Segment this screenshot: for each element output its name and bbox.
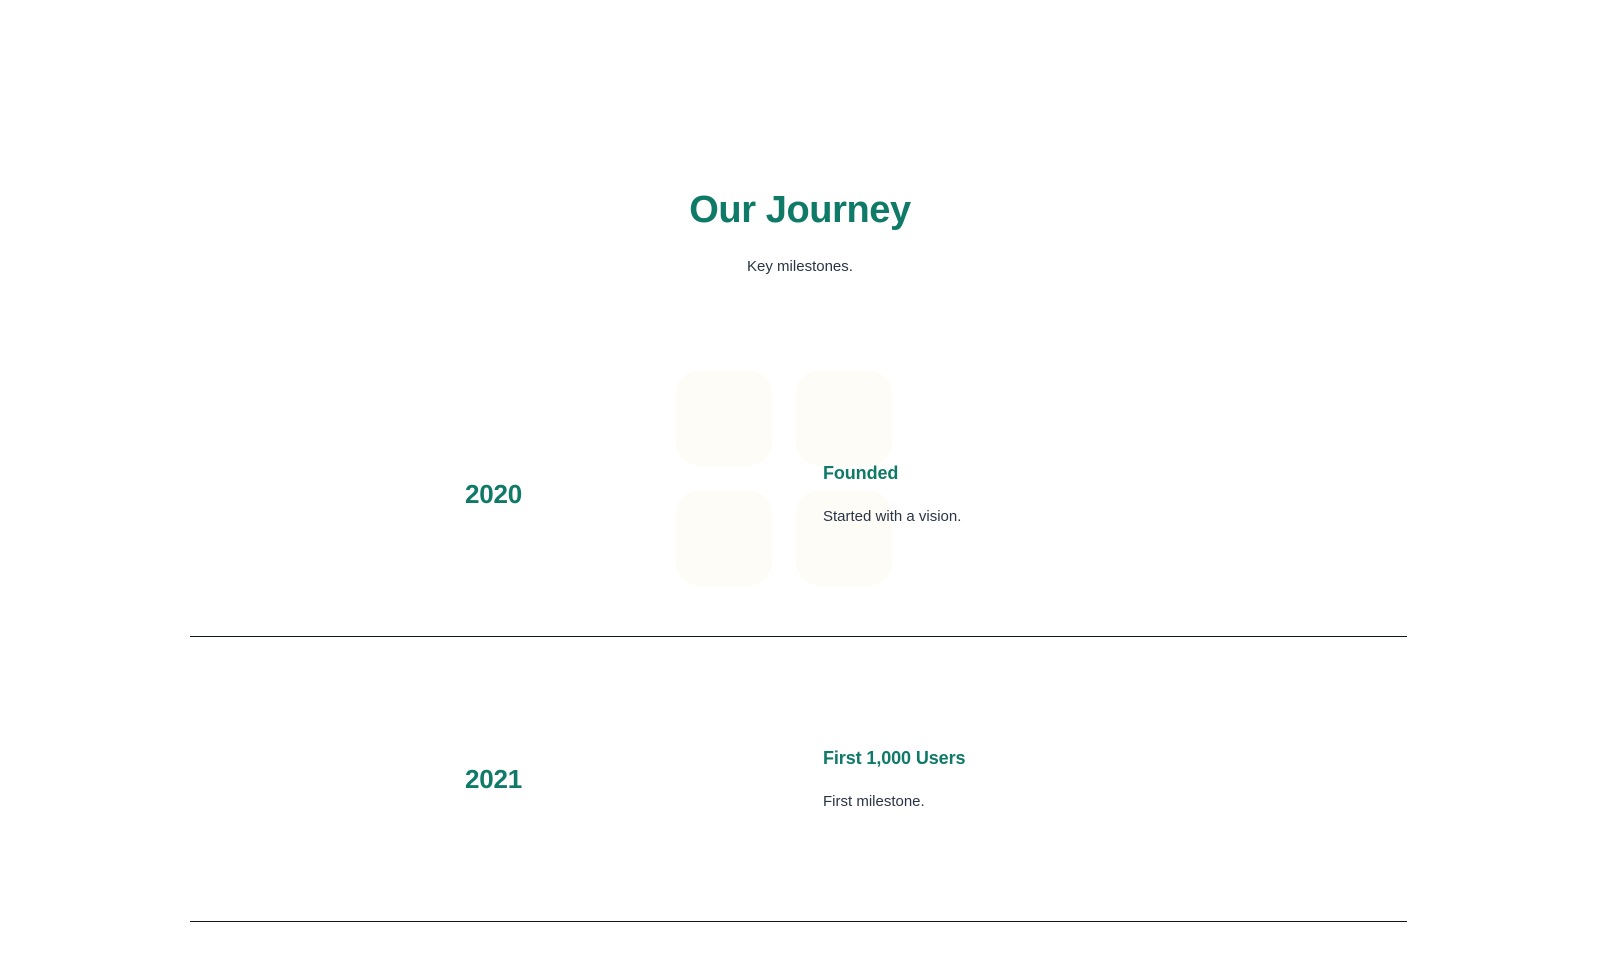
media-tile xyxy=(676,490,772,586)
timeline-list: 2020 Founded Started with a vision. 2021… xyxy=(190,352,1407,922)
timeline-content: Founded Started with a vision. xyxy=(822,461,1407,528)
media-tile xyxy=(796,370,892,466)
timeline-description: Started with a vision. xyxy=(823,506,1407,528)
journey-page: Our Journey Key milestones. 2020 Founded… xyxy=(0,0,1600,978)
timeline-heading: Founded xyxy=(823,461,1407,485)
timeline-year: 2021 xyxy=(190,763,522,795)
timeline-row: 2020 Founded Started with a vision. xyxy=(190,352,1407,637)
media-tile xyxy=(676,370,772,466)
timeline-row: 2021 First 1,000 Users First milestone. xyxy=(190,637,1407,922)
page-title: Our Journey xyxy=(0,186,1600,234)
timeline-year: 2020 xyxy=(190,478,522,510)
page-subtitle: Key milestones. xyxy=(0,256,1600,278)
timeline-description: First milestone. xyxy=(823,791,1407,813)
timeline-content: First 1,000 Users First milestone. xyxy=(822,746,1407,813)
page-header: Our Journey Key milestones. xyxy=(0,186,1600,278)
timeline-heading: First 1,000 Users xyxy=(823,746,1407,770)
